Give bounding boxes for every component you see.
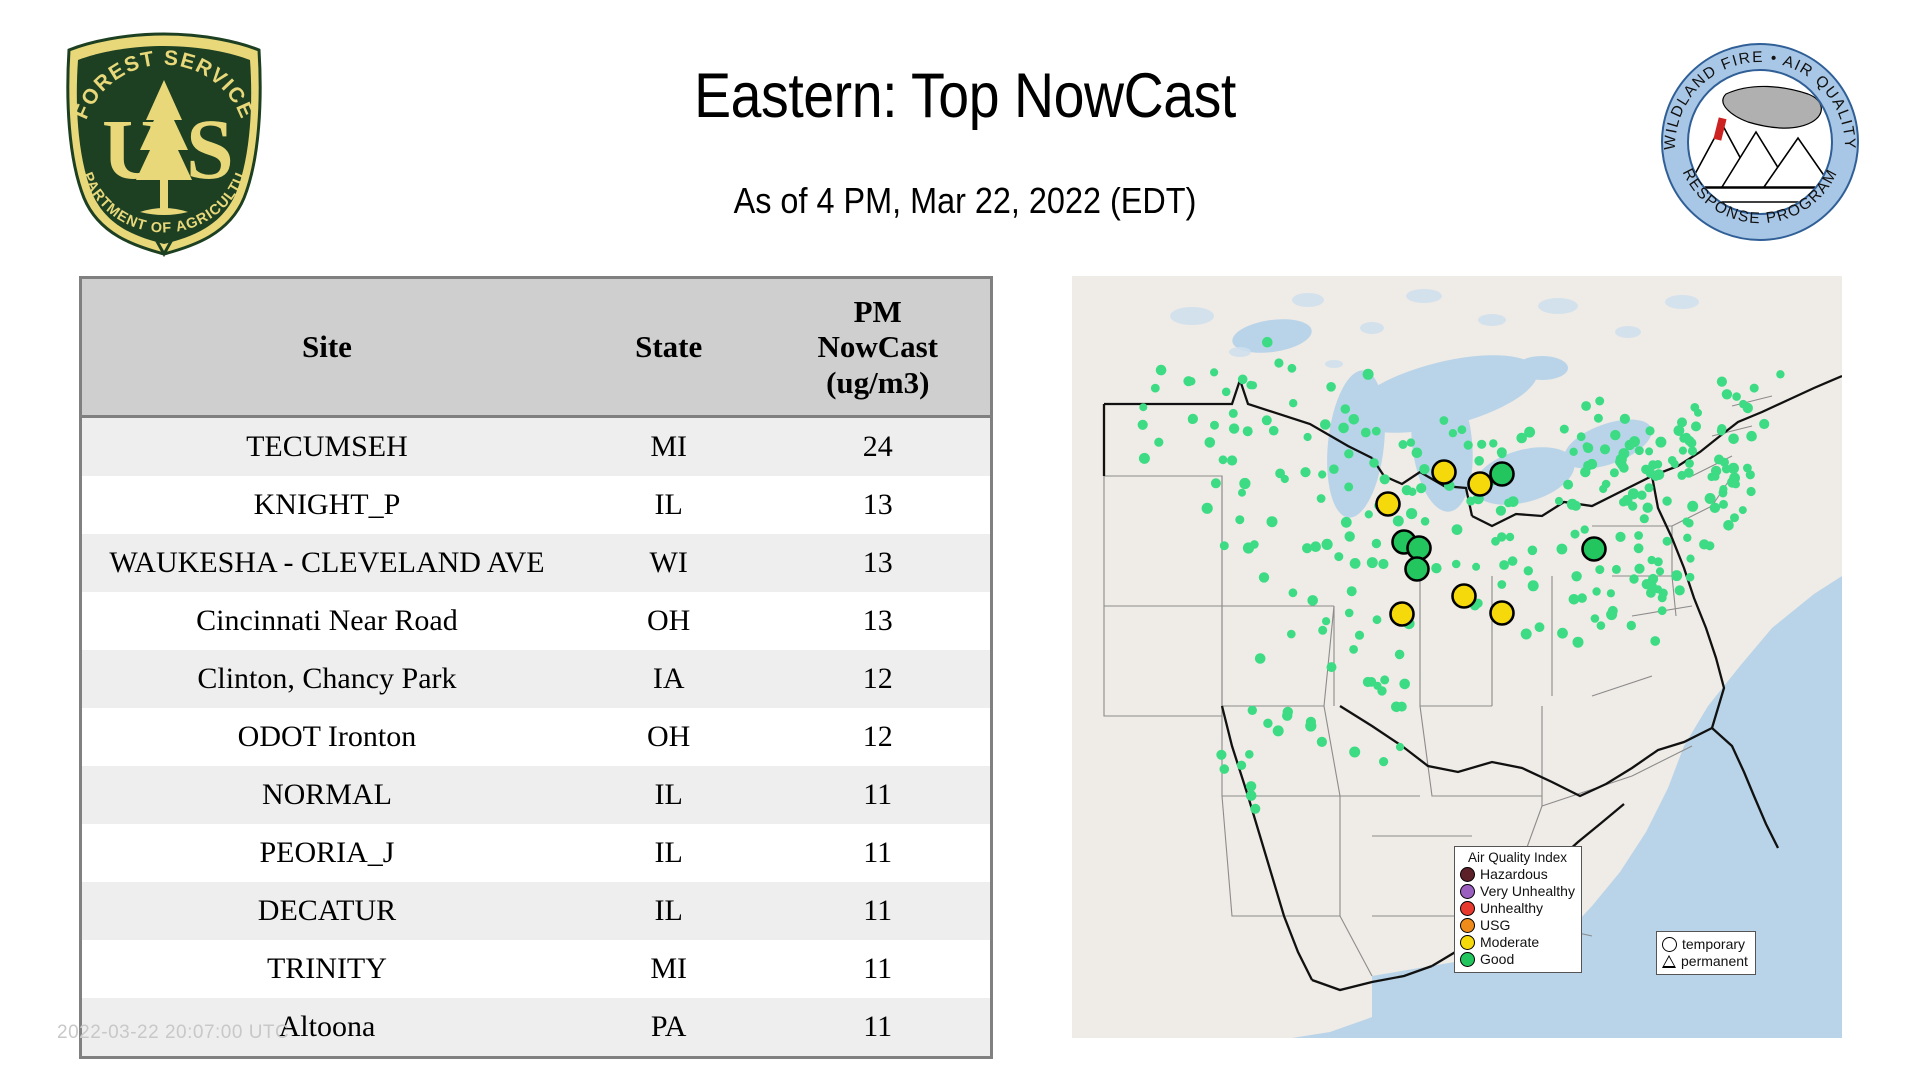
monitor-dot-good xyxy=(1722,389,1732,399)
monitor-dot-good xyxy=(1694,409,1702,417)
highlighted-monitor-marker[interactable] xyxy=(1377,493,1400,516)
monitor-dot-good xyxy=(1205,437,1216,448)
monitor-dot-good xyxy=(1289,399,1297,407)
monitor-dot-good xyxy=(1379,757,1388,766)
monitor-dot-good xyxy=(1347,586,1357,596)
monitor-dot-good xyxy=(1683,534,1691,542)
monitor-dot-good xyxy=(1627,621,1636,630)
monitor-dot-good xyxy=(1591,614,1600,623)
highlighted-monitor-marker[interactable] xyxy=(1469,473,1492,496)
circle-outline-icon xyxy=(1662,937,1677,952)
monitor-dot-good xyxy=(1685,519,1694,528)
table-row: PEORIA_JIL11 xyxy=(82,824,990,882)
fs-letter-s: S xyxy=(186,101,234,197)
monitor-dot-good xyxy=(1728,434,1739,445)
monitor-dot-good xyxy=(1528,546,1538,556)
monitor-dot-good xyxy=(1640,514,1649,523)
monitor-dot-good xyxy=(1557,544,1568,555)
monitor-dot-good xyxy=(1711,466,1721,476)
monitor-dot-good xyxy=(1202,503,1213,514)
legend-label-temporary: temporary xyxy=(1682,937,1745,952)
monitor-dot-good xyxy=(1273,725,1284,736)
monitor-dot-good xyxy=(1187,377,1195,385)
cell-pm-nowcast: 12 xyxy=(765,708,990,766)
monitor-dot-good xyxy=(1399,679,1410,690)
monitor-dot-good xyxy=(1663,537,1672,546)
monitor-dot-good xyxy=(1458,425,1467,434)
monitor-dot-good xyxy=(1489,439,1497,447)
monitor-dot-good xyxy=(1227,455,1237,465)
monitor-dot-good xyxy=(1499,560,1509,570)
monitor-dot-good xyxy=(1222,388,1231,397)
monitor-dot-good xyxy=(1344,482,1353,491)
monitor-dot-good xyxy=(1497,580,1506,589)
monitor-dot-good xyxy=(1557,628,1568,639)
monitor-dot-good xyxy=(1345,609,1354,618)
highlighted-monitor-marker[interactable] xyxy=(1433,461,1456,484)
monitor-dot-good xyxy=(1642,579,1652,589)
monitor-dot-good xyxy=(1573,637,1584,648)
aqi-legend-label: Good xyxy=(1480,952,1514,967)
monitor-dot-good xyxy=(1246,381,1255,390)
monitor-dot-good xyxy=(1581,525,1589,533)
pm-header-line-1: PM xyxy=(769,294,986,329)
monitor-dot-good xyxy=(1571,530,1580,539)
monitor-dot-good xyxy=(1366,677,1376,687)
monitor-dot-good xyxy=(1380,474,1390,484)
monitor-dot-good xyxy=(1615,532,1625,542)
monitor-dot-good xyxy=(1619,448,1630,459)
monitor-dot-good xyxy=(1210,368,1218,376)
monitor-dot-good xyxy=(1743,403,1753,413)
monitor-dot-good xyxy=(1567,499,1578,510)
monitor-dot-good xyxy=(1595,397,1604,406)
cell-state: IL xyxy=(572,824,766,882)
monitor-dot-good xyxy=(1521,629,1532,640)
monitor-dot-good xyxy=(1363,369,1374,380)
monitor-dot-good xyxy=(1577,432,1586,441)
monitor-dot-good xyxy=(1372,427,1381,436)
cell-state: MI xyxy=(572,940,766,998)
monitor-dot-good xyxy=(1238,375,1248,385)
monitor-dot-good xyxy=(1668,456,1677,465)
cell-state: IA xyxy=(572,650,766,708)
monitor-dot-good xyxy=(1654,460,1663,469)
monitor-dot-good xyxy=(1684,468,1694,478)
cell-pm-nowcast: 12 xyxy=(765,650,990,708)
monitor-dot-good xyxy=(1571,571,1581,581)
monitor-dot-good xyxy=(1719,500,1728,509)
monitor-dot-good xyxy=(1246,790,1257,801)
monitor-dot-good xyxy=(1739,506,1747,514)
monitor-dot-good xyxy=(1658,606,1667,615)
monitor-dot-good xyxy=(1287,630,1296,639)
cell-state: OH xyxy=(572,592,766,650)
monitor-dot-good xyxy=(1350,558,1361,569)
monitor-dot-good xyxy=(1372,539,1381,548)
monitor-dot-good xyxy=(1408,488,1416,496)
monitor-dot-good xyxy=(1237,761,1246,770)
monitor-dot-good xyxy=(1685,459,1694,468)
monitor-dot-good xyxy=(1722,465,1731,474)
monitor-dot-good xyxy=(1407,438,1415,446)
monitor-dot-good xyxy=(1634,564,1644,574)
aqi-swatch-icon xyxy=(1460,918,1475,933)
monitor-dot-good xyxy=(1750,384,1759,393)
monitor-dot-good xyxy=(1431,563,1441,573)
monitor-dot-good xyxy=(1686,573,1695,582)
monitor-dot-good xyxy=(1687,501,1698,512)
monitor-dot-good xyxy=(1671,570,1682,581)
monitor-dot-good xyxy=(1248,706,1257,715)
monitor-dot-good xyxy=(1369,458,1379,468)
monitor-dot-good xyxy=(1746,470,1755,479)
aqi-legend-row: Very Unhealthy xyxy=(1460,883,1575,900)
table-row: NORMALIL11 xyxy=(82,766,990,824)
monitor-dot-good xyxy=(1229,409,1238,418)
monitor-dot-good xyxy=(1349,414,1360,425)
cell-pm-nowcast: 11 xyxy=(765,998,990,1056)
cell-pm-nowcast: 13 xyxy=(765,476,990,534)
monitor-dot-good xyxy=(1416,483,1426,493)
monitor-dot-good xyxy=(1377,686,1386,695)
aqi-legend-label: Unhealthy xyxy=(1480,901,1543,916)
triangle-outline-icon xyxy=(1662,955,1676,968)
monitor-dot-good xyxy=(1648,556,1656,564)
monitor-dot-good xyxy=(1274,358,1283,367)
monitor-dot-good xyxy=(1307,595,1318,606)
monitor-dot-good xyxy=(1594,414,1603,423)
monitor-dot-good xyxy=(1255,653,1266,664)
monitor-dot-good xyxy=(1497,532,1506,541)
monitor-dot-good xyxy=(1440,416,1449,425)
monitor-dot-good xyxy=(1635,446,1644,455)
aqi-legend-row: USG xyxy=(1460,917,1575,934)
monitor-dot-good xyxy=(1686,555,1694,563)
top-nowcast-table: Site State PM NowCast (ug/m3) TECUMSEHMI… xyxy=(79,276,993,1059)
monitor-dot-good xyxy=(1679,447,1687,455)
cell-state: MI xyxy=(572,417,766,477)
monitor-dot-good xyxy=(1361,428,1371,438)
monitor-dot-good xyxy=(1452,524,1463,535)
page-subtitle: As of 4 PM, Mar 22, 2022 (EDT) xyxy=(421,180,1510,222)
monitor-dot-good xyxy=(1317,737,1327,747)
monitor-dot-good xyxy=(1472,563,1480,571)
monitor-dot-good xyxy=(1620,414,1630,424)
monitor-dot-good xyxy=(1607,589,1615,597)
monitor-dot-good xyxy=(1156,365,1167,376)
monitor-dot-good xyxy=(1634,543,1644,553)
monitor-dot-good xyxy=(1524,427,1535,438)
table-header-row: Site State PM NowCast (ug/m3) xyxy=(82,279,990,417)
aqi-legend-row: Good xyxy=(1460,951,1575,968)
monitor-dot-good xyxy=(1656,567,1664,575)
monitor-type-legend: temporary permanent xyxy=(1656,931,1756,975)
monitor-dot-good xyxy=(1747,487,1756,496)
monitor-dot-good xyxy=(1318,626,1327,635)
cell-state: IL xyxy=(572,766,766,824)
monitor-dot-good xyxy=(1477,440,1486,449)
monitor-dot-good xyxy=(1365,510,1373,518)
monitor-dot-good xyxy=(1235,515,1244,524)
monitor-dot-good xyxy=(1154,438,1163,447)
monitor-dot-good xyxy=(1464,441,1473,450)
monitor-dot-good xyxy=(1610,430,1620,440)
cell-pm-nowcast: 11 xyxy=(765,940,990,998)
monitor-dot-good xyxy=(1349,747,1360,758)
monitor-dot-good xyxy=(1563,480,1573,490)
monitor-dot-good xyxy=(1310,541,1321,552)
monitor-dot-good xyxy=(1497,447,1507,457)
aqi-legend-row: Unhealthy xyxy=(1460,900,1575,917)
monitor-dot-good xyxy=(1320,419,1331,430)
aqi-legend-row: Moderate xyxy=(1460,934,1575,951)
aqi-swatch-icon xyxy=(1460,935,1475,950)
monitor-dot-good xyxy=(1151,384,1160,393)
highlighted-monitor-marker[interactable] xyxy=(1491,463,1514,486)
monitor-dot-good xyxy=(1717,424,1726,433)
monitor-dot-good xyxy=(1645,447,1653,455)
cell-state: IL xyxy=(572,882,766,940)
monitor-dot-good xyxy=(1367,557,1378,568)
monitor-dot-good xyxy=(1327,662,1337,672)
monitor-dot-good xyxy=(1452,560,1461,569)
monitor-dot-good xyxy=(1238,489,1246,497)
monitor-dot-good xyxy=(1569,594,1580,605)
table-row: Cincinnati Near RoadOH13 xyxy=(82,592,990,650)
monitor-dot-good xyxy=(1688,446,1697,455)
monitor-dot-good xyxy=(1269,426,1279,436)
monitor-dot-good xyxy=(1393,516,1404,527)
monitor-dot-good xyxy=(1717,377,1727,387)
monitor-dot-good xyxy=(1396,743,1404,751)
aqi-swatch-icon xyxy=(1460,901,1475,916)
table-row: DECATURIL11 xyxy=(82,882,990,940)
cell-state: WI xyxy=(572,534,766,592)
monitor-dot-good xyxy=(1625,440,1635,450)
cell-site: WAUKESHA - CLEVELAND AVE xyxy=(82,534,572,592)
monitor-dot-good xyxy=(1318,470,1326,478)
pm-header-line-3: (ug/m3) xyxy=(769,365,986,400)
monitor-dot-good xyxy=(1259,572,1269,582)
highlighted-monitor-marker[interactable] xyxy=(1406,558,1429,581)
monitor-dot-good xyxy=(1622,495,1633,506)
monitor-dot-good xyxy=(1474,456,1484,466)
aqi-swatch-icon xyxy=(1460,884,1475,899)
highlighted-monitor-marker[interactable] xyxy=(1583,538,1606,561)
monitor-dot-good xyxy=(1555,497,1563,505)
monitor-dot-good xyxy=(1243,426,1253,436)
monitor-dot-good xyxy=(1528,580,1539,591)
monitor-dot-good xyxy=(1378,559,1388,569)
wildland-fire-air-quality-logo: WILDLAND FIRE • AIR QUALITY RESPONSE PRO… xyxy=(1660,42,1860,242)
monitor-dot-good xyxy=(1421,517,1430,526)
monitor-dot-good xyxy=(1395,650,1405,660)
monitor-dot-good xyxy=(1211,478,1221,488)
highlighted-monitor-marker[interactable] xyxy=(1391,603,1414,626)
monitor-dot-good xyxy=(1344,449,1353,458)
air-quality-map[interactable]: Air Quality Index HazardousVery Unhealth… xyxy=(1072,276,1842,1038)
monitor-dot-good xyxy=(1710,503,1720,513)
monitor-dot-good xyxy=(1606,609,1617,620)
aqi-legend-label: Hazardous xyxy=(1480,867,1548,882)
cell-site: NORMAL xyxy=(82,766,572,824)
legend-row-permanent: permanent xyxy=(1662,953,1748,970)
aqi-legend-title: Air Quality Index xyxy=(1460,850,1575,865)
monitor-dot-good xyxy=(1139,403,1147,411)
monitor-dot-good xyxy=(1380,675,1389,684)
monitor-dot-good xyxy=(1581,401,1591,411)
monitor-dot-good xyxy=(1496,506,1506,516)
monitor-dot-good xyxy=(1267,516,1278,527)
highlighted-monitor-marker[interactable] xyxy=(1491,602,1514,625)
highlighted-monitor-marker[interactable] xyxy=(1408,537,1431,560)
monitor-dot-good xyxy=(1263,719,1272,728)
monitor-dot-good xyxy=(1250,804,1260,814)
monitor-dot-good xyxy=(1759,419,1769,429)
pm-header-line-2: NowCast xyxy=(769,329,986,364)
cell-site: TRINITY xyxy=(82,940,572,998)
monitor-dot-good xyxy=(1746,431,1757,442)
monitor-dot-good xyxy=(1600,444,1610,454)
monitor-dot-good xyxy=(1399,440,1408,449)
monitor-dot-good xyxy=(1406,508,1417,519)
monitor-dot-good xyxy=(1504,499,1513,508)
cell-site: KNIGHT_P xyxy=(82,476,572,534)
monitor-dot-good xyxy=(1229,423,1239,433)
table-row: TRINITYMI11 xyxy=(82,940,990,998)
monitor-dot-good xyxy=(1355,631,1364,640)
monitor-dot-good xyxy=(1246,781,1256,791)
legend-label-permanent: permanent xyxy=(1681,954,1748,969)
monitor-dot-good xyxy=(1675,585,1685,595)
monitor-dot-good xyxy=(1612,565,1621,574)
cell-state: IL xyxy=(572,476,766,534)
monitor-dot-good xyxy=(1719,485,1727,493)
monitor-dot-good xyxy=(1645,426,1654,435)
column-header-state: State xyxy=(572,279,766,417)
monitor-dot-good xyxy=(1282,711,1292,721)
monitor-dot-good xyxy=(1662,496,1671,505)
aqi-legend-label: Moderate xyxy=(1480,935,1539,950)
monitor-dot-good xyxy=(1610,468,1619,477)
monitor-dot-good xyxy=(1776,370,1784,378)
monitor-dot-good xyxy=(1655,437,1666,448)
monitor-dot-good xyxy=(1730,513,1739,522)
aqi-legend-row: Hazardous xyxy=(1460,866,1575,883)
cell-pm-nowcast: 13 xyxy=(765,534,990,592)
aqi-swatch-icon xyxy=(1460,867,1475,882)
monitor-dot-good xyxy=(1219,455,1228,464)
monitor-dot-good xyxy=(1250,540,1259,549)
monitor-dot-good xyxy=(1412,448,1423,459)
monitor-dot-good xyxy=(1658,593,1667,602)
monitor-dot-good xyxy=(1139,453,1150,464)
monitor-dot-good xyxy=(1262,337,1273,348)
monitor-dot-good xyxy=(1685,436,1695,446)
monitor-dot-good xyxy=(1643,503,1653,513)
monitor-dot-good xyxy=(1322,617,1330,625)
monitor-dot-good xyxy=(1506,533,1514,541)
monitor-dot-good xyxy=(1210,421,1219,430)
generation-timestamp: 2022-03-22 20:07:00 UTC xyxy=(57,1022,289,1044)
highlighted-monitor-marker[interactable] xyxy=(1453,585,1476,608)
monitor-dot-good xyxy=(1732,392,1741,401)
monitor-dot-good xyxy=(1691,421,1701,431)
monitor-dot-good xyxy=(1634,531,1643,540)
monitor-dot-good xyxy=(1705,493,1716,504)
monitor-dot-good xyxy=(1653,469,1664,480)
monitor-dot-good xyxy=(1334,552,1343,561)
monitor-dot-good xyxy=(1322,539,1333,550)
monitor-dot-good xyxy=(1524,566,1533,575)
aqi-legend: Air Quality Index HazardousVery Unhealth… xyxy=(1454,846,1582,973)
table-body: TECUMSEHMI24KNIGHT_PIL13WAUKESHA - CLEVE… xyxy=(82,417,990,1057)
monitor-dot-good xyxy=(1645,483,1654,492)
monitor-dot-good xyxy=(1569,448,1577,456)
monitor-dot-good xyxy=(1597,621,1606,630)
monitor-dot-good xyxy=(1595,565,1604,574)
cell-state: OH xyxy=(572,708,766,766)
monitor-dot-good xyxy=(1341,404,1351,414)
monitor-dot-good xyxy=(1288,364,1297,373)
monitor-dot-good xyxy=(1349,645,1358,654)
monitor-dot-good xyxy=(1239,478,1250,489)
cell-site: DECATUR xyxy=(82,882,572,940)
monitor-dot-good xyxy=(1302,543,1312,553)
monitor-dot-good xyxy=(1216,750,1226,760)
table-row: Clinton, Chancy ParkIA12 xyxy=(82,650,990,708)
monitor-dot-good xyxy=(1508,556,1518,566)
monitor-dot-good xyxy=(1138,420,1148,430)
monitor-dot-good xyxy=(1220,764,1230,774)
monitor-dot-good xyxy=(1587,459,1598,470)
table-row: ODOT IrontonOH12 xyxy=(82,708,990,766)
monitor-dot-good xyxy=(1281,475,1289,483)
cell-site: Cincinnati Near Road xyxy=(82,592,572,650)
monitor-dot-good xyxy=(1188,414,1198,424)
column-header-site: Site xyxy=(82,279,572,417)
monitor-dot-good xyxy=(1419,464,1429,474)
cell-pm-nowcast: 11 xyxy=(765,882,990,940)
aqi-legend-label: Very Unhealthy xyxy=(1480,884,1575,899)
monitor-dot-good xyxy=(1599,485,1607,493)
cell-site: ODOT Ironton xyxy=(82,708,572,766)
monitor-dot-good xyxy=(1373,615,1382,624)
aqi-swatch-icon xyxy=(1460,952,1475,967)
monitor-dot-good xyxy=(1466,497,1475,506)
monitor-dot-good xyxy=(1305,720,1316,731)
us-forest-service-logo: FOREST SERVICE U S DEPARTMENT OF AGRICUL… xyxy=(54,28,274,258)
table-row: WAUKESHA - CLEVELAND AVEWI13 xyxy=(82,534,990,592)
monitor-dot-good xyxy=(1329,464,1339,474)
monitor-dot-good xyxy=(1245,750,1254,759)
monitor-dot-good xyxy=(1341,517,1352,528)
monitor-dot-good xyxy=(1705,541,1714,550)
monitor-dot-good xyxy=(1629,574,1638,583)
table-row: TECUMSEHMI24 xyxy=(82,417,990,477)
slide-canvas: FOREST SERVICE U S DEPARTMENT OF AGRICUL… xyxy=(0,0,1920,1080)
table-row: KNIGHT_PIL13 xyxy=(82,476,990,534)
monitor-dot-good xyxy=(1677,417,1687,427)
cell-pm-nowcast: 13 xyxy=(765,592,990,650)
monitor-dot-good xyxy=(1723,520,1734,531)
cell-site: Clinton, Chancy Park xyxy=(82,650,572,708)
page-title: Eastern: Top NowCast xyxy=(433,60,1498,132)
cell-site: TECUMSEH xyxy=(82,417,572,477)
monitor-dot-good xyxy=(1304,433,1312,441)
monitor-dot-good xyxy=(1326,382,1336,392)
